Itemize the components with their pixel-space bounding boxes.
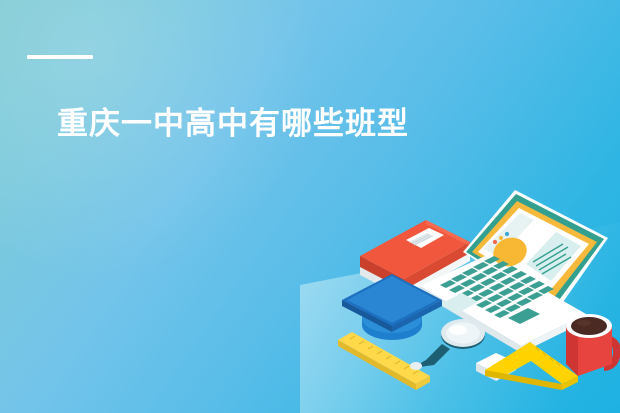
ruler-icon [338, 332, 430, 390]
title-divider [27, 55, 93, 59]
page-title: 重庆一中高中有哪些班型 [57, 104, 409, 144]
triangle-ruler-icon [485, 342, 578, 390]
banner: 重庆一中高中有哪些班型 [0, 0, 620, 413]
coffee-mug-icon [566, 314, 620, 376]
isometric-study-desk-illustration [330, 180, 620, 413]
